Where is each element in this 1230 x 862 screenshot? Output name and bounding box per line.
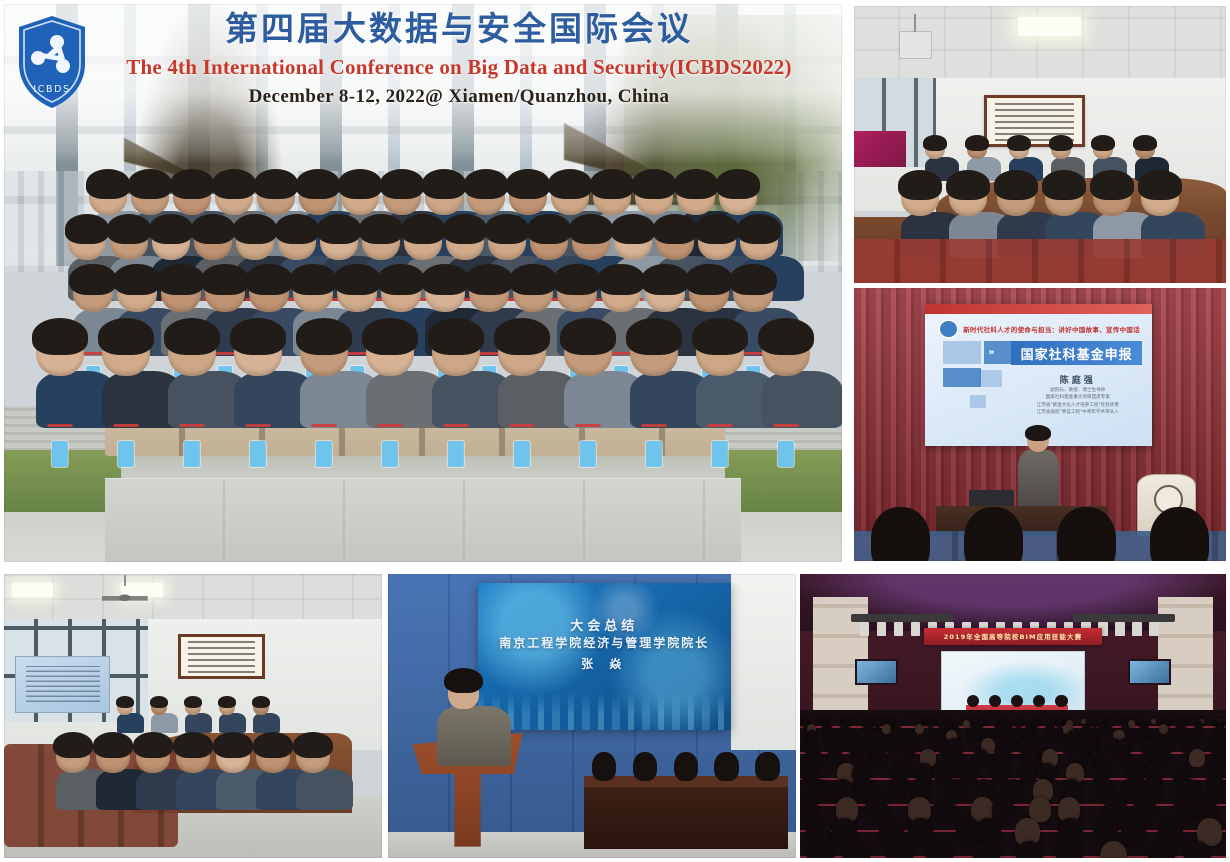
person-head: [425, 272, 465, 312]
person-head: [1055, 695, 1067, 707]
person-head: [253, 699, 269, 715]
person-figure: [216, 739, 250, 810]
person-figure: [176, 739, 210, 810]
person-head: [446, 222, 484, 260]
person-head: [645, 272, 685, 312]
person-head: [967, 695, 979, 707]
person-head: [1011, 695, 1023, 707]
person-head: [56, 739, 90, 773]
person-figure: [36, 328, 84, 429]
foreground-people-row: [4, 739, 382, 810]
person-head: [1189, 749, 1205, 767]
person-head: [185, 699, 201, 715]
photo-collage: ICBDS 第四届大数据与安全国际会议 The 4th Internationa…: [0, 0, 1230, 862]
name-badge: [712, 441, 728, 467]
person-body: [253, 713, 280, 732]
person-head: [1118, 719, 1123, 725]
spotlight-icon: [1115, 622, 1124, 636]
person-head: [915, 724, 924, 735]
person-head: [964, 507, 1024, 561]
person-head: [215, 177, 253, 215]
person-figure: [117, 699, 133, 733]
person-head: [926, 841, 953, 858]
person-head: [299, 177, 337, 215]
person-head: [341, 177, 379, 215]
person-figure: [300, 328, 348, 429]
conference-title-banner: ICBDS 第四届大数据与安全国际会议 The 4th Internationa…: [4, 4, 842, 164]
person-head: [381, 272, 421, 312]
person-head: [234, 328, 282, 376]
person-figure: [234, 328, 282, 429]
person-head: [927, 720, 934, 728]
person-head: [256, 739, 290, 773]
name-badge: [646, 441, 662, 467]
slide-affiliation-line: 副院长、教授、博士生导师: [1015, 387, 1140, 395]
person-head: [425, 177, 463, 215]
stage-banner-text: 2019年全国高等院校BIM应用技能大赛: [944, 631, 1082, 641]
person-head: [714, 752, 738, 781]
person-head: [102, 328, 150, 376]
person-head: [1093, 178, 1131, 216]
slide-affiliation-line: 江苏省"紫金文化人才培养工程"社科优青: [1015, 402, 1140, 410]
person-head: [874, 720, 881, 728]
person-head: [989, 695, 1001, 707]
person-head: [992, 797, 1015, 822]
person-body: [151, 713, 178, 732]
spotlight-icon: [1149, 622, 1158, 636]
title-block: 第四届大数据与安全国际会议 The 4th International Conf…: [104, 4, 842, 111]
person-head: [762, 328, 810, 376]
person-head: [1033, 695, 1045, 707]
person-head: [236, 222, 274, 260]
person-head: [1093, 139, 1113, 159]
person-head: [994, 724, 1003, 735]
slide-decor-square: [943, 341, 982, 364]
person-head: [296, 739, 330, 773]
audience-heads: [854, 490, 1226, 561]
person-head: [168, 328, 216, 376]
person-head: [509, 177, 547, 215]
person-figure: [432, 328, 480, 429]
person-figure: [696, 328, 744, 429]
person-head: [592, 752, 616, 781]
person-figure: [564, 328, 612, 429]
person-head: [205, 272, 245, 312]
person-head: [689, 272, 729, 312]
person-head: [257, 177, 295, 215]
person-head: [698, 222, 736, 260]
person-figure: [56, 739, 90, 810]
person-head: [488, 222, 526, 260]
person-head: [885, 779, 905, 802]
slide-decor-square: [979, 370, 1002, 387]
person-head: [733, 272, 773, 312]
person-head: [949, 178, 987, 216]
person-figure: [498, 328, 546, 429]
logo-wrap: ICBDS: [4, 4, 104, 110]
person-head: [924, 730, 936, 743]
person-head: [469, 272, 509, 312]
slide-title-band: 国家社科基金申报: [1011, 341, 1143, 365]
conference-date-location: December 8-12, 2022@ Xiamen/Quanzhou, Ch…: [104, 84, 814, 111]
audience-crowd: [800, 716, 1226, 858]
led-screen: 大会总结 南京工程学院经济与管理学院院长 张 焱: [478, 583, 731, 731]
person-figure: [219, 699, 235, 733]
person-head: [173, 177, 211, 215]
person-head: [530, 222, 568, 260]
person-head: [871, 749, 887, 767]
name-badge: [448, 441, 464, 467]
meeting-room-photo: [854, 6, 1226, 283]
person-head: [630, 328, 678, 376]
person-head: [366, 328, 414, 376]
calligraphy-artwork: [178, 634, 265, 679]
person-head: [572, 222, 610, 260]
projector-icon: [899, 31, 932, 59]
head-table: [584, 776, 788, 850]
person-head: [886, 841, 913, 858]
person-head: [719, 177, 757, 215]
conference-group-photo: ICBDS 第四届大数据与安全国际会议 The 4th Internationa…: [4, 4, 842, 562]
person-head: [635, 177, 673, 215]
person-head: [933, 719, 938, 725]
spotlight-icon: [894, 622, 903, 636]
person-body: [219, 713, 246, 732]
person-head: [901, 178, 939, 216]
person-head: [656, 222, 694, 260]
person-head: [467, 177, 505, 215]
person-head: [383, 177, 421, 215]
speaker-head: [1027, 430, 1049, 452]
person-head: [151, 699, 167, 715]
person-head: [696, 328, 744, 376]
person-figure: [762, 328, 810, 429]
person-head: [219, 699, 235, 715]
person-head: [1004, 724, 1013, 735]
person-head: [68, 222, 106, 260]
person-head: [36, 328, 84, 376]
ceiling-fan-icon: [102, 585, 147, 611]
name-badge: [580, 441, 596, 467]
university-logo-icon: [938, 319, 958, 339]
person-head: [807, 841, 834, 858]
icbds-shield-logo: ICBDS: [16, 14, 88, 110]
person-head: [677, 177, 715, 215]
classroom-session-photo: [4, 574, 382, 858]
name-badge: [184, 441, 200, 467]
person-head: [1009, 139, 1029, 159]
ceiling-light: [12, 583, 54, 597]
spotlight-icon: [911, 622, 920, 636]
person-head: [117, 272, 157, 312]
slide-affiliation-lines: 副院长、教授、博士生导师国家社科基金重大项目首席专家江苏省"紫金文化人才培养工程…: [1015, 387, 1140, 417]
person-body: [185, 713, 212, 732]
person-figure: [185, 699, 201, 733]
person-head: [136, 739, 170, 773]
person-figure: [102, 328, 150, 429]
person-head: [967, 139, 987, 159]
person-head: [902, 719, 907, 725]
panel-members: [584, 725, 788, 782]
person-head: [853, 719, 858, 725]
lighting-truss: [1073, 614, 1175, 623]
person-head: [959, 763, 977, 783]
pavement: [105, 478, 742, 562]
page-title-cn: 第四届大数据与安全国际会议: [104, 10, 814, 49]
person-body: [117, 713, 144, 732]
person-head: [73, 272, 113, 312]
speaker-body: [437, 706, 511, 766]
person-head: [1045, 178, 1083, 216]
person-head: [300, 328, 348, 376]
person-head: [498, 328, 546, 376]
page-title-en: The 4th International Conference on Big …: [104, 53, 814, 81]
spotlight-icon: [860, 622, 869, 636]
person-head: [1047, 730, 1059, 743]
person-head: [1173, 797, 1196, 822]
slide-line-3: 张 焱: [478, 655, 731, 672]
lighting-truss: [851, 614, 953, 623]
person-head: [249, 272, 289, 312]
spotlight-icon: [877, 622, 886, 636]
slide-top-bar: [925, 304, 1152, 314]
table-row: [4, 328, 842, 429]
spotlight-icon: [1132, 622, 1141, 636]
person-head: [1135, 139, 1155, 159]
slide-affiliation-line: 国家社科基金重大项目首席专家: [1015, 394, 1140, 402]
person-head: [337, 272, 377, 312]
person-head: [194, 222, 232, 260]
person-head: [293, 272, 333, 312]
name-badge: [778, 441, 794, 467]
person-head: [933, 797, 956, 822]
person-head: [432, 328, 480, 376]
stage-banner: 2019年全国高等院校BIM应用技能大赛: [924, 628, 1103, 645]
slide-line-2: 南京工程学院经济与管理学院院长: [478, 634, 731, 651]
auditorium-photo: 2019年全国高等院校BIM应用技能大赛: [800, 574, 1226, 858]
person-head: [117, 699, 133, 715]
person-head: [843, 841, 870, 858]
person-head: [362, 222, 400, 260]
slide-decor-square: [970, 395, 986, 408]
panel-members: [962, 693, 1073, 707]
person-figure: [136, 739, 170, 810]
person-head: [89, 177, 127, 215]
person-head: [925, 139, 945, 159]
slide-presenter-name: 陈庭强: [1027, 373, 1129, 386]
person-head: [1057, 507, 1117, 561]
person-head: [1051, 139, 1071, 159]
person-figure: [96, 739, 130, 810]
name-badge: [52, 441, 68, 467]
person-head: [1061, 738, 1075, 753]
person-head: [601, 272, 641, 312]
person-head: [152, 222, 190, 260]
side-monitor: [1128, 659, 1171, 685]
person-head: [110, 222, 148, 260]
ceiling: [4, 574, 382, 622]
person-figure: [256, 739, 290, 810]
speaker-figure: [437, 676, 490, 761]
person-figure: [630, 328, 678, 429]
person-head: [404, 222, 442, 260]
person-head: [1141, 178, 1179, 216]
person-head: [557, 272, 597, 312]
name-badge: [118, 441, 134, 467]
person-head: [1016, 841, 1043, 858]
ceiling-light: [1018, 17, 1081, 36]
slide-affiliation-line: 江苏省高校"青蓝工程"中青年学术带头人: [1015, 409, 1140, 417]
person-head: [908, 818, 933, 846]
person-head: [1150, 507, 1210, 561]
person-head: [176, 739, 210, 773]
person-head: [593, 177, 631, 215]
person-head: [1134, 730, 1146, 743]
person-head: [1100, 841, 1127, 858]
name-badge: [250, 441, 266, 467]
person-head: [161, 272, 201, 312]
person-head: [320, 222, 358, 260]
person-figure: [296, 739, 330, 810]
name-badge: [316, 441, 332, 467]
person-head: [614, 222, 652, 260]
closing-summary-photo: 大会总结 南京工程学院经济与管理学院院长 张 焱: [388, 574, 796, 858]
seated-people-row: [4, 699, 382, 733]
person-head: [1121, 818, 1146, 846]
slide-title: 国家社科基金申报: [1021, 344, 1133, 363]
side-monitor: [855, 659, 898, 685]
person-head: [871, 507, 931, 561]
slide-subtitle: 新时代社科人才的使命与担当：讲好中国故事、宣传中国话语: [963, 324, 1140, 334]
person-head: [1056, 720, 1063, 728]
logo-text: ICBDS: [33, 84, 70, 95]
person-head: [278, 222, 316, 260]
slide-decor-square: [943, 368, 982, 386]
person-head: [755, 752, 779, 781]
person-head: [967, 730, 979, 743]
person-head: [740, 222, 778, 260]
lecture-hall-photo: 新时代社科人才的使命与担当：讲好中国故事、宣传中国话语 » 国家社科基金申报 陈…: [854, 288, 1226, 561]
person-head: [551, 177, 589, 215]
speaker-head: [448, 676, 479, 709]
person-figure: [151, 699, 167, 733]
person-head: [1019, 763, 1037, 783]
person-head: [1151, 719, 1156, 725]
person-figure: [366, 328, 414, 429]
name-badge: [514, 441, 530, 467]
person-head: [131, 177, 169, 215]
person-body: [296, 769, 353, 810]
chairs: [854, 239, 1226, 283]
person-head: [997, 178, 1035, 216]
person-figure: [253, 699, 269, 733]
person-head: [564, 328, 612, 376]
person-head: [633, 752, 657, 781]
name-badge: [382, 441, 398, 467]
person-head: [513, 272, 553, 312]
person-figure: [168, 328, 216, 429]
person-head: [96, 739, 130, 773]
person-head: [1015, 720, 1022, 728]
person-body: [762, 371, 842, 429]
person-head: [216, 739, 250, 773]
chevron-right-icon: »: [988, 347, 994, 358]
slide-line-1: 大会总结: [478, 615, 731, 634]
person-head: [674, 752, 698, 781]
